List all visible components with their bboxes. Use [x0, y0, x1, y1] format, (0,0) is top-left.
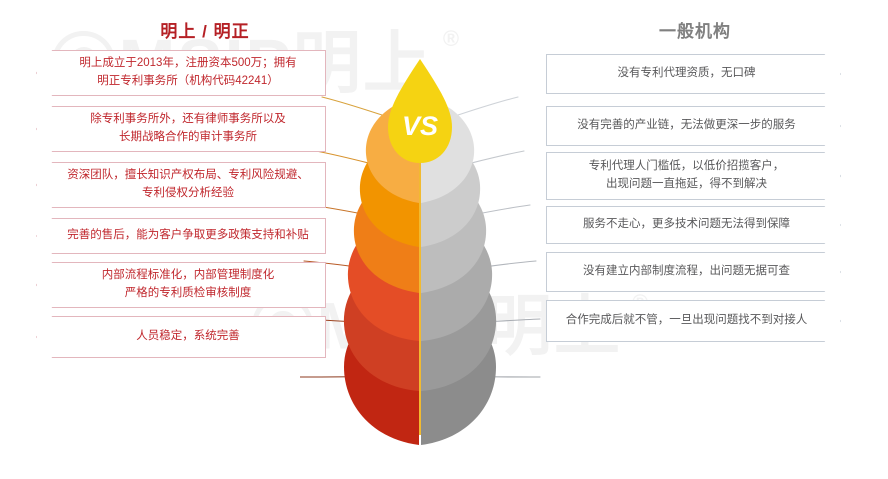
card-line: 明上成立于2013年，注册资本500万；拥有 — [79, 55, 296, 73]
card-text: 完善的售后，能为客户争取更多政策支持和补贴 — [67, 227, 309, 245]
card-text: 内部流程标准化，内部管理制度化严格的专利质检审核制度 — [102, 267, 275, 303]
registered-mark-icon: ® — [443, 26, 461, 51]
card-line: 人员稳定，系统完善 — [136, 328, 240, 346]
right-card-3[interactable]: 专利代理人门槛低，以低价招揽客户，出现问题一直拖延，得不到解决 — [546, 152, 841, 200]
card-line: 专利侵权分析经验 — [67, 185, 309, 203]
card-line: 严格的专利质检审核制度 — [102, 285, 275, 303]
card-text: 除专利事务所外，还有律师事务所以及长期战略合作的审计事务所 — [90, 111, 286, 147]
right-card-1[interactable]: 没有专利代理资质，无口碑 — [546, 54, 841, 94]
card-text: 没有专利代理资质，无口碑 — [618, 65, 756, 83]
card-line: 没有完善的产业链，无法做更深一步的服务 — [577, 117, 796, 135]
card-line: 完善的售后，能为客户争取更多政策支持和补贴 — [67, 227, 309, 245]
left-card-5[interactable]: 内部流程标准化，内部管理制度化严格的专利质检审核制度 — [36, 262, 326, 308]
card-text: 人员稳定，系统完善 — [136, 328, 240, 346]
right-column-title: 一般机构 — [545, 17, 845, 42]
card-line: 没有建立内部制度流程，出问题无据可查 — [583, 263, 790, 281]
card-text: 没有完善的产业链，无法做更深一步的服务 — [577, 117, 796, 135]
card-line: 没有专利代理资质，无口碑 — [618, 65, 756, 83]
right-card-6[interactable]: 合作完成后就不管，一旦出现问题找不到对接人 — [546, 300, 841, 342]
card-text: 没有建立内部制度流程，出问题无据可查 — [583, 263, 790, 281]
left-card-3[interactable]: 资深团队，擅长知识产权布局、专利风险规避、专利侵权分析经验 — [36, 162, 326, 208]
infographic-canvas: MSIP明上® MSIP明上® 明上 / 明正 一般机构 — [0, 0, 888, 479]
card-line: 内部流程标准化，内部管理制度化 — [102, 267, 275, 285]
vs-label: VS — [402, 111, 438, 141]
card-line: 明正专利事务所（机构代码42241） — [79, 73, 296, 91]
card-line: 合作完成后就不管，一旦出现问题找不到对接人 — [566, 312, 808, 330]
card-line: 除专利事务所外，还有律师事务所以及 — [90, 111, 286, 129]
right-card-5[interactable]: 没有建立内部制度流程，出问题无据可查 — [546, 252, 841, 292]
card-line: 资深团队，擅长知识产权布局、专利风险规避、 — [67, 167, 309, 185]
left-card-2[interactable]: 除专利事务所外，还有律师事务所以及长期战略合作的审计事务所 — [36, 106, 326, 152]
card-text: 合作完成后就不管，一旦出现问题找不到对接人 — [566, 312, 808, 330]
card-line: 专利代理人门槛低，以低价招揽客户， — [589, 158, 785, 176]
card-text: 明上成立于2013年，注册资本500万；拥有明正专利事务所（机构代码42241） — [79, 55, 296, 91]
left-card-6[interactable]: 人员稳定，系统完善 — [36, 316, 326, 358]
right-card-2[interactable]: 没有完善的产业链，无法做更深一步的服务 — [546, 106, 841, 146]
card-line: 长期战略合作的审计事务所 — [90, 129, 286, 147]
card-line: 服务不走心，更多技术问题无法得到保障 — [583, 216, 790, 234]
card-text: 服务不走心，更多技术问题无法得到保障 — [583, 216, 790, 234]
left-card-1[interactable]: 明上成立于2013年，注册资本500万；拥有明正专利事务所（机构代码42241） — [36, 50, 326, 96]
right-card-4[interactable]: 服务不走心，更多技术问题无法得到保障 — [546, 206, 841, 244]
card-text: 专利代理人门槛低，以低价招揽客户，出现问题一直拖延，得不到解决 — [589, 158, 785, 194]
card-text: 资深团队，擅长知识产权布局、专利风险规避、专利侵权分析经验 — [67, 167, 309, 203]
card-line: 出现问题一直拖延，得不到解决 — [589, 176, 785, 194]
left-card-4[interactable]: 完善的售后，能为客户争取更多政策支持和补贴 — [36, 218, 326, 254]
left-column-title: 明上 / 明正 — [60, 17, 350, 42]
